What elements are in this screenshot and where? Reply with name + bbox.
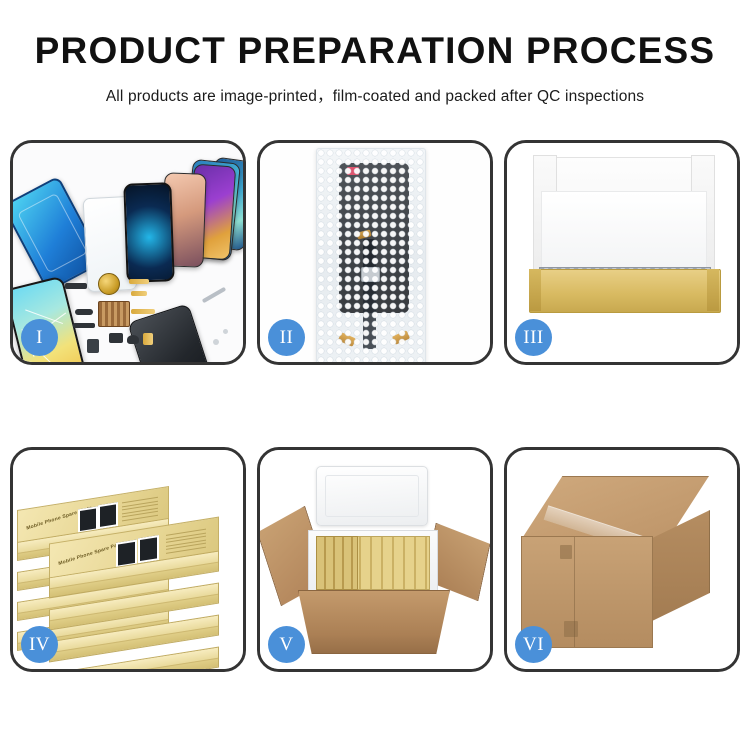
- step-badge-6: VI: [515, 626, 552, 663]
- carton-body: [298, 590, 450, 654]
- step-badge-4: IV: [21, 626, 58, 663]
- step-badge-3: III: [515, 319, 552, 356]
- spare-part-4: [109, 333, 123, 343]
- spare-part-1: [65, 283, 87, 289]
- tray-side-left: [529, 269, 541, 311]
- flex-cable-1: [129, 279, 149, 284]
- tweezers: [202, 287, 227, 303]
- step-panel-2[interactable]: II: [257, 140, 493, 365]
- step-panel-3[interactable]: III: [504, 140, 740, 365]
- page-subtitle: All products are image-printed，film-coat…: [0, 84, 750, 106]
- white-foam-sheet: [541, 191, 707, 273]
- carton-hand-slot-top: [560, 545, 572, 559]
- step-badge-5: V: [268, 626, 305, 663]
- step-panel-5[interactable]: V: [257, 447, 493, 672]
- camera-module: [87, 339, 99, 353]
- box-label-front: Mobile Phone Spare Parts: [58, 540, 125, 567]
- carton-hand-slot-bottom: [564, 621, 578, 637]
- wireless-charging-coil: [98, 273, 120, 295]
- spare-part-2: [75, 309, 93, 315]
- product-preparation-page: PRODUCT PREPARATION PROCESS All products…: [0, 0, 750, 750]
- page-header: PRODUCT PREPARATION PROCESS All products…: [0, 0, 750, 106]
- step-panel-4[interactable]: Mobile Phone Spare Parts Mobile Phone Sp…: [10, 447, 246, 672]
- screw-1: [213, 339, 219, 345]
- battery-connector: [143, 333, 153, 345]
- chip-array: [98, 301, 130, 327]
- bubble-wrap-bag: [316, 148, 426, 362]
- page-title: PRODUCT PREPARATION PROCESS: [0, 32, 750, 71]
- process-step-grid: I II: [10, 140, 740, 673]
- spare-part-5: [127, 335, 139, 344]
- spare-part-3: [73, 323, 95, 328]
- step-badge-2: II: [268, 319, 305, 356]
- step-panel-6[interactable]: VI: [504, 447, 740, 672]
- step-panel-1[interactable]: I: [10, 140, 246, 365]
- flex-cable-3: [131, 309, 155, 314]
- tray-side-right: [707, 269, 719, 311]
- phone-display-1: [123, 182, 174, 283]
- flex-cable-2: [131, 291, 147, 296]
- gold-boxes-row-left: [316, 536, 358, 590]
- foam-box-lid: [316, 466, 428, 526]
- bubble-texture: [317, 149, 425, 362]
- step-badge-1: I: [21, 319, 58, 356]
- screw-2: [223, 329, 228, 334]
- kraft-tray-body: [529, 269, 721, 313]
- carton-seam: [574, 537, 575, 647]
